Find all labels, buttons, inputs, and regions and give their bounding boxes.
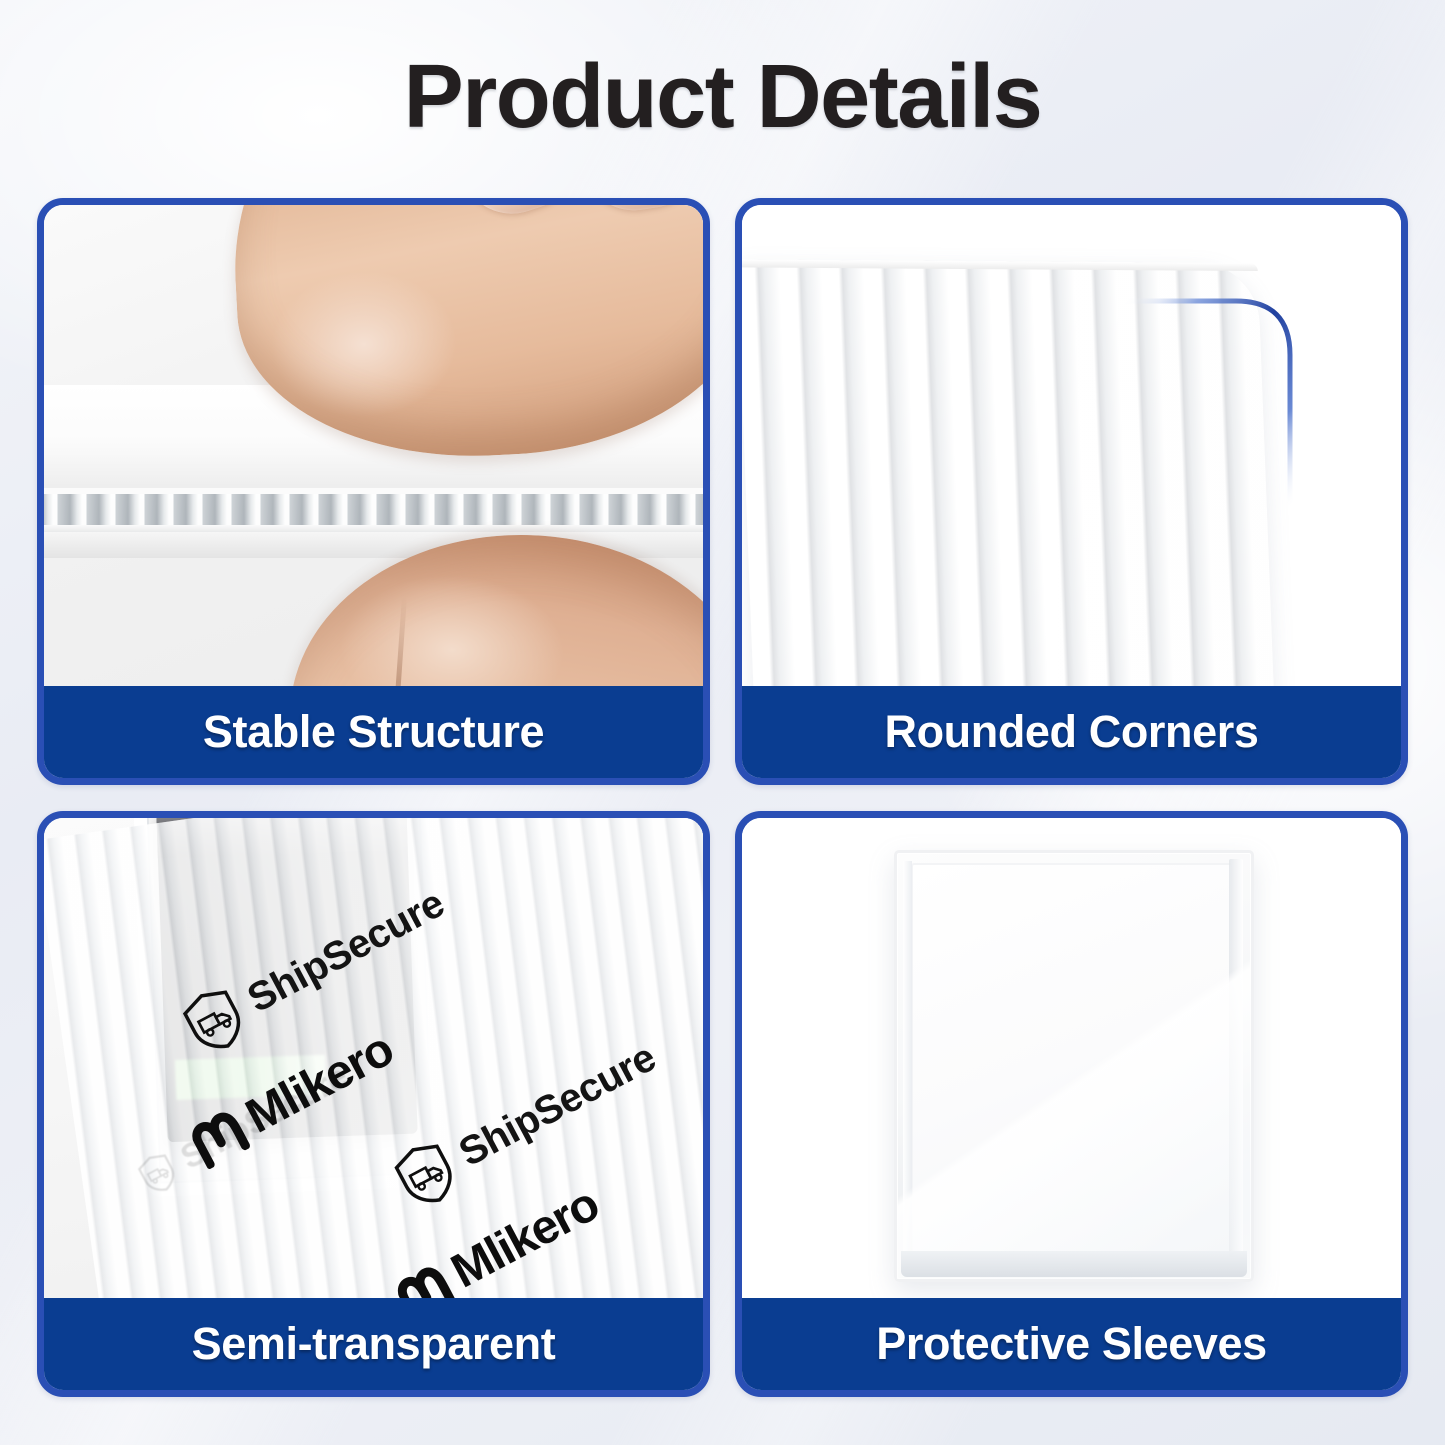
fingernail — [565, 205, 703, 218]
feature-card-grid: Stable Structure — [37, 198, 1408, 1408]
corrugated-core — [44, 488, 703, 532]
rib-pattern — [742, 259, 1279, 686]
card-label-protective-sleeves: Protective Sleeves — [742, 1298, 1401, 1390]
fluted-panel — [742, 259, 1279, 686]
clear-protective-sleeve — [894, 850, 1254, 1282]
fingernail — [698, 205, 703, 210]
translucent-fluted-sheet: ShipSecure ShipSecure — [44, 818, 703, 1298]
sleeve-bottom-seam — [901, 1251, 1247, 1277]
photo-semi-transparent: ShipSecure ShipSecure — [44, 818, 703, 1298]
feature-card-rounded-corners[interactable]: Rounded Corners — [735, 198, 1408, 785]
core-top-skin — [44, 488, 703, 494]
card-label-rounded-corners: Rounded Corners — [742, 686, 1401, 778]
page-title: Product Details — [0, 46, 1445, 149]
card-label-semi-transparent: Semi-transparent — [44, 1298, 703, 1390]
photo-rounded-corners — [742, 205, 1401, 686]
card-label-stable-structure: Stable Structure — [44, 686, 703, 778]
feature-card-stable-structure[interactable]: Stable Structure — [37, 198, 710, 785]
photo-protective-sleeves — [742, 818, 1401, 1298]
feature-card-semi-transparent[interactable]: ShipSecure ShipSecure — [37, 811, 710, 1397]
product-details-infographic: Product Details St — [0, 0, 1445, 1445]
sleeve-gloss-reflection — [897, 853, 1251, 1279]
photo-stable-structure — [44, 205, 703, 686]
core-bottom-skin — [44, 525, 703, 532]
fingernail — [441, 205, 591, 228]
feature-card-protective-sleeves[interactable]: Protective Sleeves — [735, 811, 1408, 1397]
